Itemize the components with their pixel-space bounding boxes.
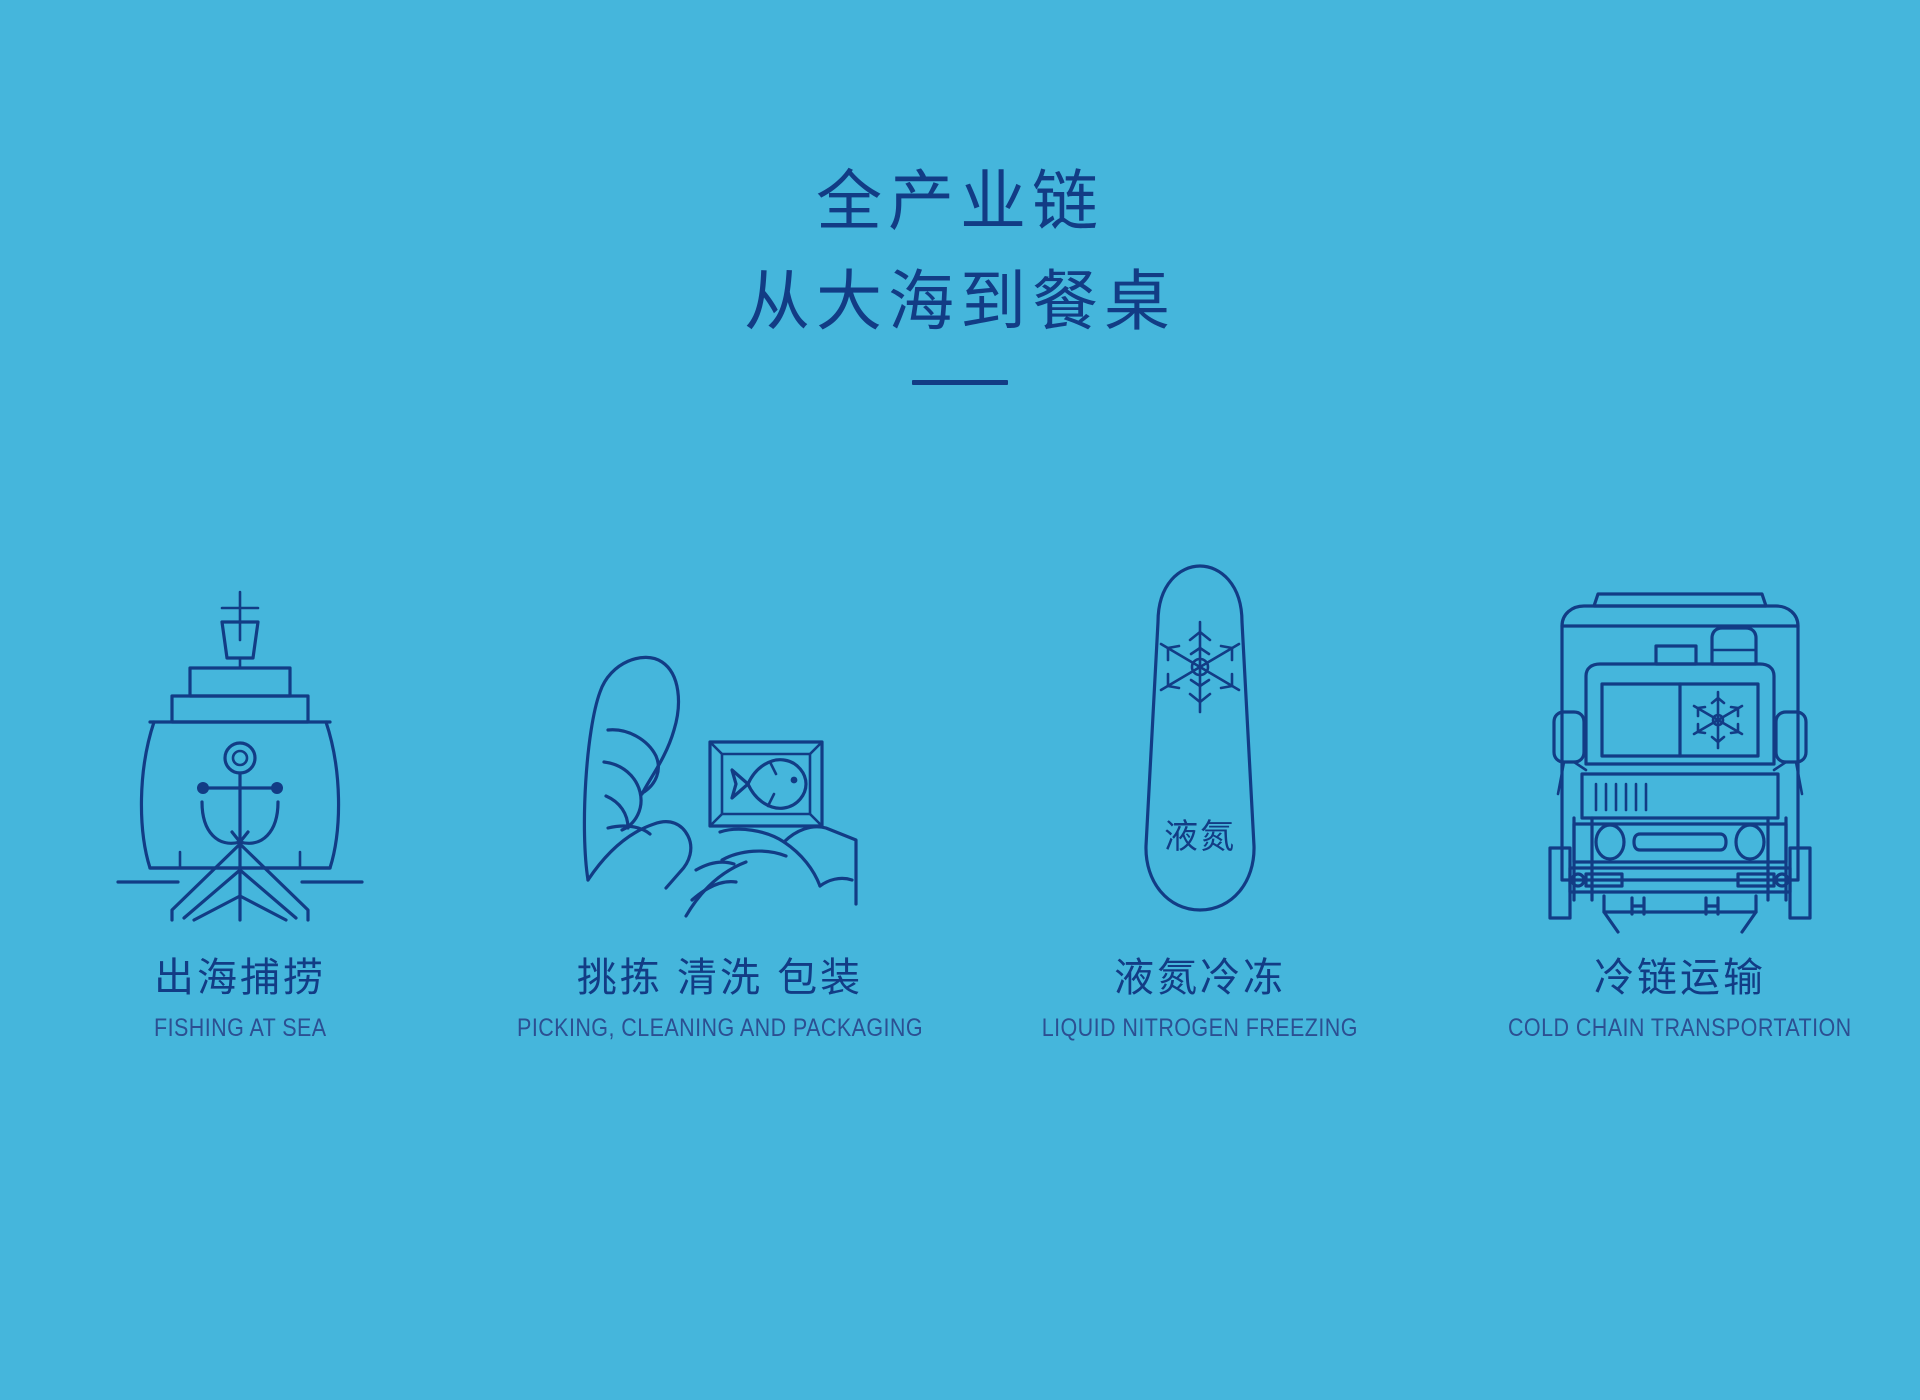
page-root: 全产业链 从大海到餐桌 <box>0 0 1920 1400</box>
step-labels: 冷链运输 COLD CHAIN TRANSPORTATION <box>1480 954 1880 1043</box>
refrigerated-truck-icon <box>1540 520 1820 920</box>
step-labels: 挑拣 清洗 包装 PICKING, CLEANING AND PACKAGING <box>484 954 956 1043</box>
step-label-cn: 出海捕捞 <box>140 954 341 1002</box>
step-labels: 出海捕捞 FISHING AT SEA <box>140 954 341 1043</box>
tank-caption: 液氮 <box>1164 818 1236 856</box>
step-labels: 液氮冷冻 LIQUID NITROGEN FREEZING <box>1016 954 1384 1043</box>
step-fishing-at-sea[interactable]: 出海捕捞 FISHING AT SEA <box>0 520 480 1043</box>
process-steps-row: 出海捕捞 FISHING AT SEA <box>0 520 1920 1043</box>
hands-holding-packaged-fish-icon <box>570 520 870 920</box>
snowflake-glyph <box>1694 692 1742 748</box>
step-picking-cleaning-packaging[interactable]: 挑拣 清洗 包装 PICKING, CLEANING AND PACKAGING <box>480 520 960 1043</box>
step-label-en: PICKING, CLEANING AND PACKAGING <box>517 1014 923 1043</box>
title-divider <box>912 380 1008 385</box>
snowflake-glyph <box>1161 622 1239 712</box>
step-label-cn: 挑拣 清洗 包装 <box>484 954 956 1002</box>
grille-slats <box>1596 784 1646 810</box>
step-label-cn: 液氮冷冻 <box>1016 954 1384 1002</box>
step-label-cn: 冷链运输 <box>1480 954 1880 1002</box>
fishing-boat-icon <box>110 520 370 920</box>
step-label-en: LIQUID NITROGEN FREEZING <box>1042 1014 1358 1043</box>
liquid-nitrogen-tank-icon: 液氮 <box>1120 520 1280 920</box>
page-title-line-2: 从大海到餐桌 <box>0 270 1920 336</box>
step-label-en: COLD CHAIN TRANSPORTATION <box>1508 1014 1852 1043</box>
page-title-block: 全产业链 从大海到餐桌 <box>0 170 1920 385</box>
step-liquid-nitrogen-freezing[interactable]: 液氮 液氮冷冻 LIQUID NITROGEN FREEZING <box>960 520 1440 1043</box>
step-label-en: FISHING AT SEA <box>154 1014 326 1043</box>
step-cold-chain-transportation[interactable]: 冷链运输 COLD CHAIN TRANSPORTATION <box>1440 520 1920 1043</box>
page-title-line-1: 全产业链 <box>0 170 1920 236</box>
